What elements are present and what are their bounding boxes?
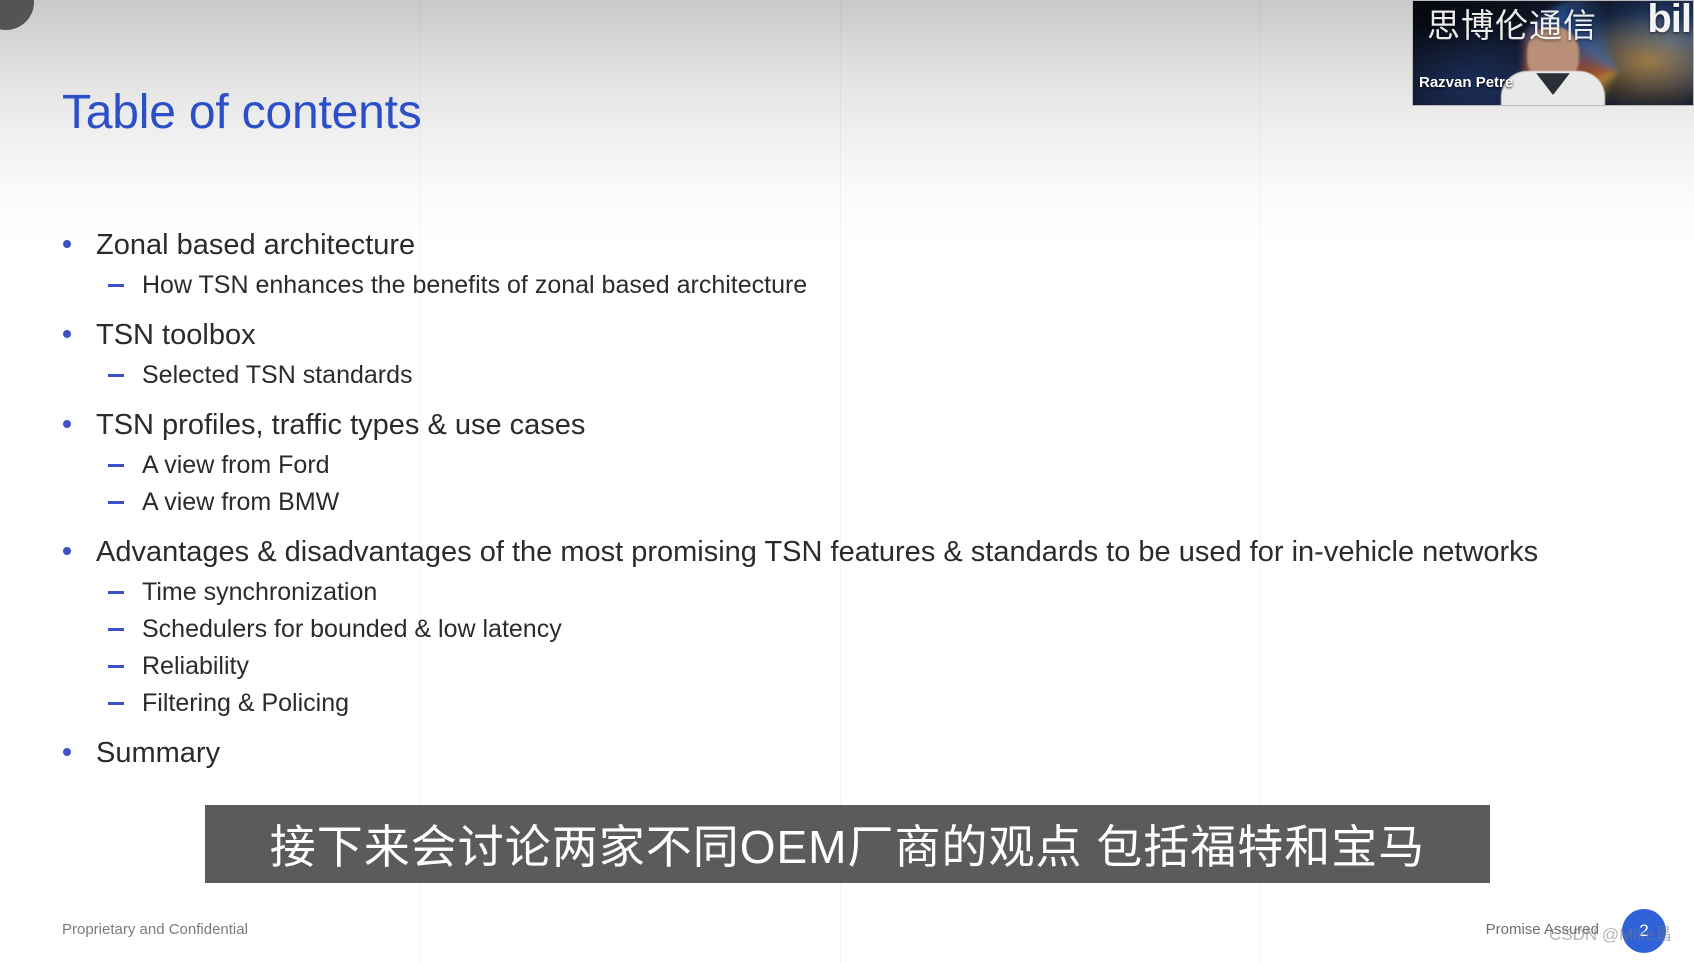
- bullet-dot-icon: [63, 330, 71, 338]
- toc-item-summary[interactable]: Summary: [58, 736, 1558, 770]
- speaker-name-label: Razvan Petre: [1419, 74, 1513, 91]
- toc-subitem-label: A view from Ford: [142, 451, 330, 479]
- toc-group: TSN profiles, traffic types & use cases …: [58, 408, 1558, 517]
- toc-item-label: TSN profiles, traffic types & use cases: [96, 409, 585, 441]
- table-of-contents-list: Zonal based architecture How TSN enhance…: [58, 228, 1558, 778]
- toc-subitem-label: A view from BMW: [142, 488, 339, 516]
- toc-subitem-view-from-bmw[interactable]: A view from BMW: [58, 487, 1558, 517]
- bilibili-logo-icon: bil: [1647, 0, 1691, 42]
- toc-group: Zonal based architecture How TSN enhance…: [58, 228, 1558, 300]
- toc-item-label: Advantages & disadvantages of the most p…: [96, 536, 1538, 568]
- bullet-dash-icon: [108, 628, 124, 631]
- toc-subitem-filtering-policing[interactable]: Filtering & Policing: [58, 688, 1558, 718]
- page-number-badge: 2: [1622, 909, 1666, 953]
- toc-subitem-label: Schedulers for bounded & low latency: [142, 615, 562, 643]
- footer-confidentiality-notice: Proprietary and Confidential: [62, 921, 248, 938]
- bullet-dash-icon: [108, 374, 124, 377]
- toc-subitem-how-tsn-enhances[interactable]: How TSN enhances the benefits of zonal b…: [58, 270, 1558, 300]
- bullet-dash-icon: [108, 665, 124, 668]
- bullet-dash-icon: [108, 702, 124, 705]
- channel-watermark: 思博伦通信: [1427, 0, 1597, 47]
- toc-item-label: Zonal based architecture: [96, 229, 415, 261]
- toc-subitem-time-synchronization[interactable]: Time synchronization: [58, 577, 1558, 607]
- toc-item-tsn-profiles[interactable]: TSN profiles, traffic types & use cases: [58, 408, 1558, 442]
- toc-subitem-reliability[interactable]: Reliability: [58, 651, 1558, 681]
- toc-subitem-label: Selected TSN standards: [142, 361, 413, 389]
- toc-group: Summary: [58, 736, 1558, 770]
- bullet-dot-icon: [63, 420, 71, 428]
- toc-item-zonal-architecture[interactable]: Zonal based architecture: [58, 228, 1558, 262]
- toc-item-tsn-toolbox[interactable]: TSN toolbox: [58, 318, 1558, 352]
- corner-circle-decoration: [0, 0, 34, 30]
- bullet-dot-icon: [63, 748, 71, 756]
- footer-tagline: Promise Assured: [1486, 921, 1599, 938]
- bullet-dash-icon: [108, 501, 124, 504]
- toc-subitem-view-from-ford[interactable]: A view from Ford: [58, 450, 1558, 480]
- toc-subitem-schedulers[interactable]: Schedulers for bounded & low latency: [58, 614, 1558, 644]
- toc-item-label: TSN toolbox: [96, 319, 256, 351]
- bullet-dash-icon: [108, 284, 124, 287]
- video-thumbnail[interactable]: 思博伦通信 bil Razvan Petre: [1412, 0, 1694, 106]
- subtitle-caption: 接下来会讨论两家不同OEM厂商的观点 包括福特和宝马: [205, 805, 1490, 883]
- page-title: Table of contents: [62, 85, 422, 140]
- bullet-dot-icon: [63, 240, 71, 248]
- toc-subitem-label: How TSN enhances the benefits of zonal b…: [142, 271, 807, 299]
- toc-subitem-label: Filtering & Policing: [142, 689, 349, 717]
- toc-subitem-selected-tsn-standards[interactable]: Selected TSN standards: [58, 360, 1558, 390]
- toc-group: TSN toolbox Selected TSN standards: [58, 318, 1558, 390]
- toc-subitem-label: Reliability: [142, 652, 249, 680]
- toc-item-label: Summary: [96, 737, 220, 769]
- bullet-dash-icon: [108, 464, 124, 467]
- toc-subitem-label: Time synchronization: [142, 578, 377, 606]
- toc-group: Advantages & disadvantages of the most p…: [58, 535, 1558, 718]
- toc-item-advantages-disadvantages[interactable]: Advantages & disadvantages of the most p…: [58, 535, 1558, 569]
- bullet-dot-icon: [63, 547, 71, 555]
- bullet-dash-icon: [108, 591, 124, 594]
